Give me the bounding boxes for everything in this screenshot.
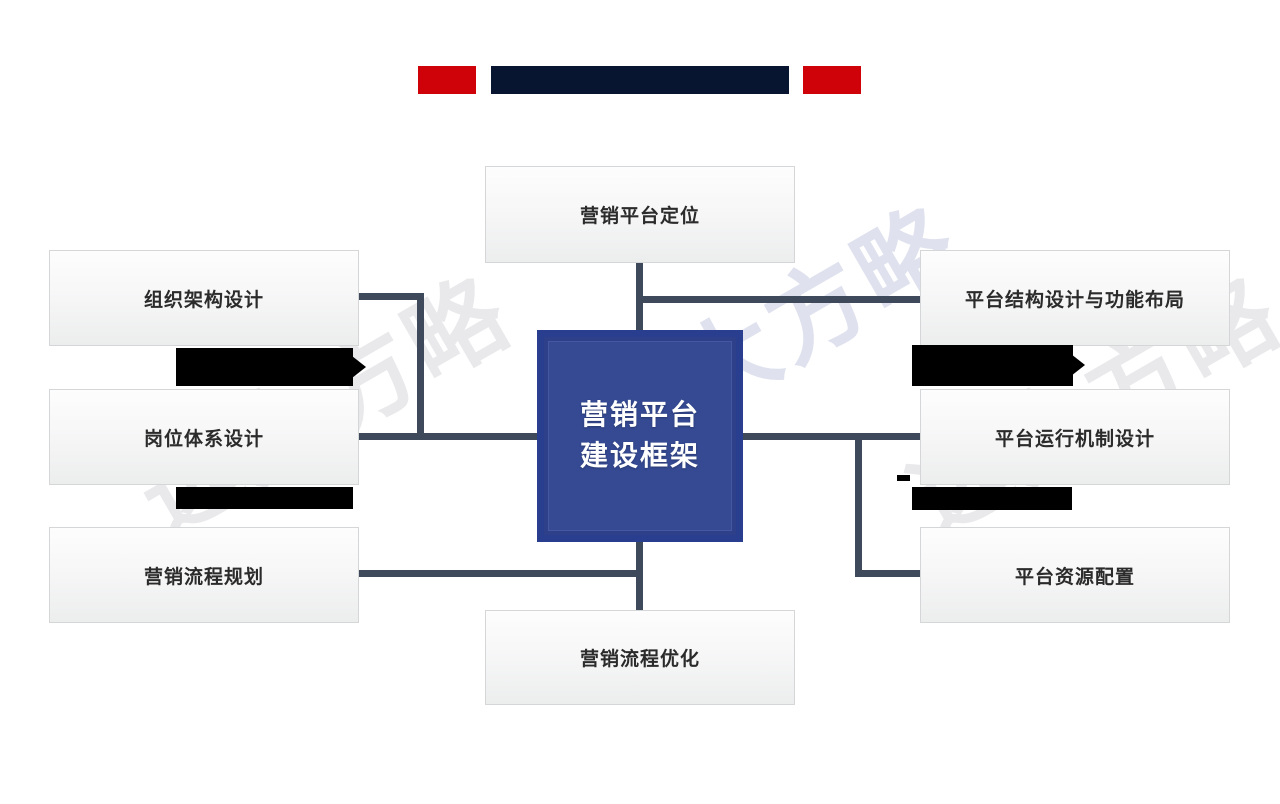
node-top[interactable]: 营销平台定位	[485, 166, 795, 263]
node-left-3-label: 营销流程规划	[144, 562, 264, 589]
title-tab-right	[803, 66, 861, 94]
node-bottom[interactable]: 营销流程优化	[485, 610, 795, 705]
node-center-label-line1: 营销平台	[580, 395, 700, 436]
node-left-3[interactable]: 营销流程规划	[49, 527, 359, 623]
redaction-dash-right	[897, 475, 910, 481]
title-redaction-bar	[491, 66, 789, 94]
node-left-1[interactable]: 组织架构设计	[49, 250, 359, 346]
node-bottom-label: 营销流程优化	[580, 644, 700, 671]
node-right-2-label: 平台运行机制设计	[995, 424, 1155, 451]
connector-left-mid-horizontal	[358, 433, 540, 440]
diagram-canvas: 远大方略 远大方略 远大方略 营销平台建设框架 营销平台定位 营销流程优化 组织…	[0, 0, 1280, 804]
connector-left-bottom-horizontal	[358, 570, 643, 577]
redaction-arrow-left-upper	[352, 356, 366, 378]
node-center-inner: 营销平台 建设框架	[548, 341, 732, 531]
node-right-1[interactable]: 平台结构设计与功能布局	[920, 250, 1230, 346]
title-banner: 营销平台建设框架	[0, 66, 1280, 96]
redaction-bar-left-lower	[176, 487, 353, 509]
connector-right-mid-horizontal	[740, 433, 930, 440]
connector-right-bottom-horizontal	[855, 570, 923, 577]
node-right-2[interactable]: 平台运行机制设计	[920, 389, 1230, 485]
title-tab-left	[418, 66, 476, 94]
redaction-bar-right-lower	[912, 487, 1072, 510]
connector-bottom-vertical	[636, 541, 643, 613]
node-left-1-label: 组织架构设计	[144, 285, 264, 312]
node-left-2[interactable]: 岗位体系设计	[49, 389, 359, 485]
node-center[interactable]: 营销平台 建设框架	[537, 330, 743, 542]
node-center-label-line2: 建设框架	[580, 436, 700, 477]
node-right-1-label: 平台结构设计与功能布局	[965, 285, 1185, 312]
connector-left-top-vertical	[417, 293, 424, 440]
node-right-3[interactable]: 平台资源配置	[920, 527, 1230, 623]
redaction-bar-left-upper	[176, 348, 353, 386]
node-right-3-label: 平台资源配置	[1015, 562, 1135, 589]
node-left-2-label: 岗位体系设计	[144, 424, 264, 451]
connector-right-bottom-vertical	[855, 436, 862, 577]
connector-right-top-horizontal	[640, 296, 923, 303]
redaction-arrow-right-upper	[1071, 354, 1085, 376]
redaction-bar-right-upper	[912, 345, 1073, 386]
node-top-label: 营销平台定位	[580, 201, 700, 228]
connector-left-top-horizontal	[358, 293, 424, 300]
